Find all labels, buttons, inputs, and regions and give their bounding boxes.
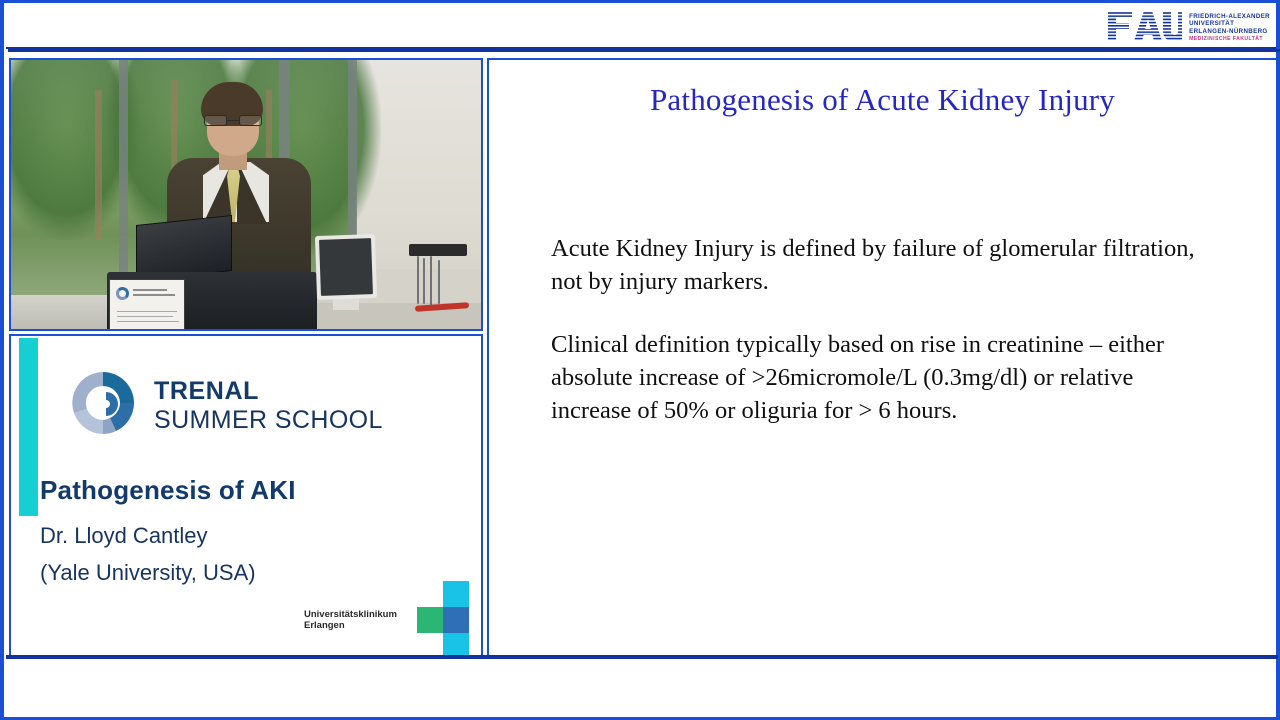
header-divider (8, 49, 1280, 52)
uk-erlangen-wordmark: Universitätsklinikum Erlangen (304, 609, 397, 632)
speaker-affiliation: (Yale University, USA) (40, 560, 256, 586)
fau-line-1: FRIEDRICH-ALEXANDER (1189, 13, 1270, 21)
uk-line-2: Erlangen (304, 620, 397, 632)
accent-bar (19, 338, 38, 516)
fau-logo: FRIEDRICH-ALEXANDER UNIVERSITÄT ERLANGEN… (1106, 9, 1270, 45)
header-bar: FRIEDRICH-ALEXANDER UNIVERSITÄT ERLANGEN… (6, 4, 1276, 49)
video-frame-image (11, 60, 481, 329)
desk-monitor (315, 234, 377, 300)
slide-paragraph-1: Acute Kidney Injury is defined by failur… (551, 232, 1211, 298)
cross-icon (417, 581, 475, 659)
uk-line-1: Universitätsklinikum (304, 609, 397, 621)
slide-title: Pathogenesis of Acute Kidney Injury (489, 82, 1276, 118)
trenal-line-2: SUMMER SCHOOL (154, 405, 383, 435)
trenal-wordmark: TRENAL SUMMER SCHOOL (154, 377, 383, 435)
fau-line-2: UNIVERSITÄT (1189, 20, 1270, 28)
trenal-logo: TRENAL SUMMER SCHOOL (66, 366, 383, 446)
slide-paragraph-2: Clinical definition typically based on r… (551, 328, 1211, 427)
fau-wordmark-text: FRIEDRICH-ALEXANDER UNIVERSITÄT ERLANGEN… (1189, 9, 1270, 45)
trenal-mark-icon (66, 366, 140, 446)
speaker-name: Dr. Lloyd Cantley (40, 523, 208, 549)
slide-viewer-page: FRIEDRICH-ALEXANDER UNIVERSITÄT ERLANGEN… (0, 0, 1280, 720)
wall-socket-strip (409, 244, 467, 256)
slide-body: Acute Kidney Injury is defined by failur… (551, 232, 1211, 457)
talk-title: Pathogenesis of AKI (40, 475, 296, 506)
universitaetsklinikum-erlangen-logo: Universitätsklinikum Erlangen (304, 581, 475, 659)
speaker-video-panel[interactable] (9, 58, 483, 331)
trenal-line-1: TRENAL (154, 377, 383, 405)
fau-line-3: ERLANGEN-NÜRNBERG (1189, 28, 1270, 36)
footer-bar (6, 659, 1276, 715)
fau-wordmark-icon (1106, 9, 1182, 43)
presentation-slide[interactable]: Pathogenesis of Acute Kidney Injury Acut… (487, 58, 1278, 661)
fau-faculty-line: MEDIZINISCHE FAKULTÄT (1189, 35, 1270, 44)
podium-sign (109, 279, 185, 329)
